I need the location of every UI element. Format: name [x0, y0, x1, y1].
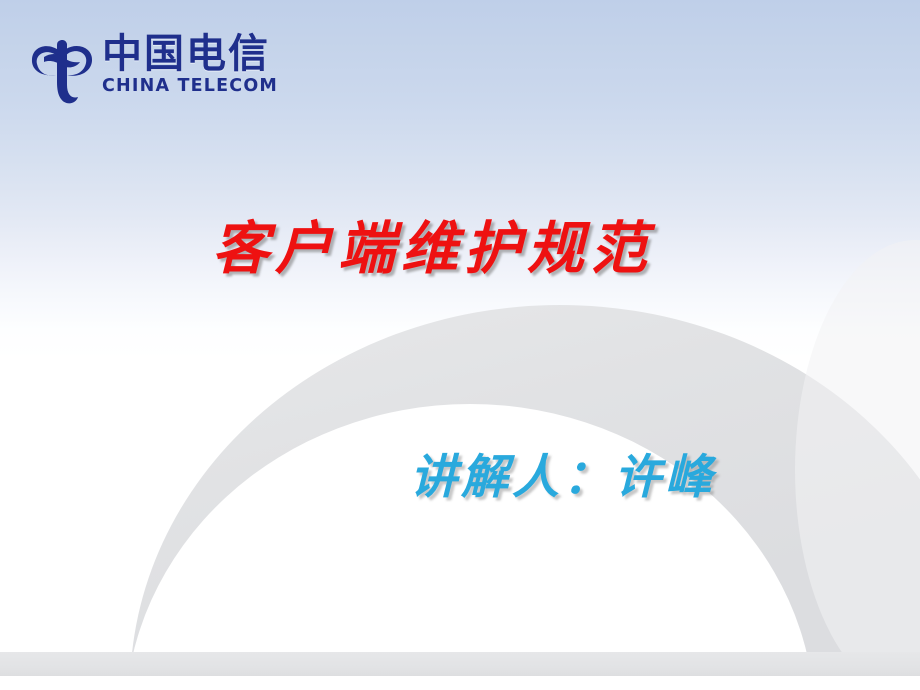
china-telecom-mark-icon	[30, 35, 96, 111]
bottom-white-strip	[0, 678, 920, 690]
logo-english-name: CHINA TELECOM	[102, 78, 278, 96]
bottom-band	[0, 652, 920, 678]
slide-title: 客户端维护规范	[212, 203, 653, 285]
presentation-slide: 中国电信 CHINA TELECOM 客户端维护规范 讲解人：许峰	[0, 0, 920, 690]
presenter-label: 讲解人：许峰	[410, 438, 716, 507]
logo-chinese-name: 中国电信	[102, 33, 278, 75]
china-telecom-logo-text: 中国电信 CHINA TELECOM	[102, 33, 278, 96]
china-telecom-logo: 中国电信 CHINA TELECOM	[30, 33, 280, 121]
